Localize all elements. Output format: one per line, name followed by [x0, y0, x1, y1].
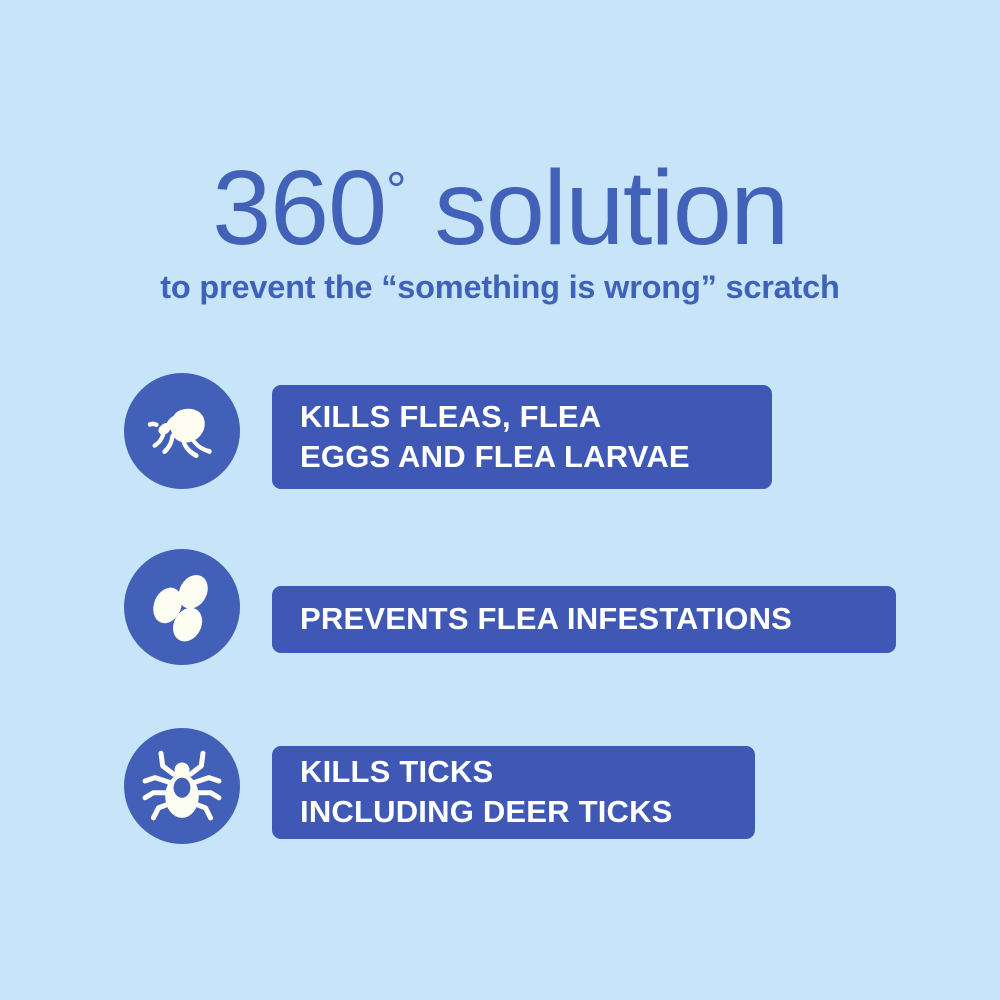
flea-eggs-icon [124, 549, 240, 665]
banner-line: INCLUDING DEER TICKS [300, 792, 755, 832]
banner-line: KILLS TICKS [300, 752, 755, 792]
banner-line: EGGS AND FLEA LARVAE [300, 437, 772, 477]
feature-banner: KILLS FLEAS, FLEA EGGS AND FLEA LARVAE [272, 385, 772, 489]
feature-row: PREVENTS FLEA INFESTATIONS [124, 549, 896, 665]
feature-banner: KILLS TICKS INCLUDING DEER TICKS [272, 746, 755, 839]
banner-line: KILLS FLEAS, FLEA [300, 397, 772, 437]
tick-icon [124, 728, 240, 844]
flea-icon [124, 373, 240, 489]
feature-banner: PREVENTS FLEA INFESTATIONS [272, 586, 896, 653]
feature-row: KILLS FLEAS, FLEA EGGS AND FLEA LARVAE [124, 373, 772, 489]
promo-panel: 360° solution to prevent the “something … [0, 0, 1000, 1000]
feature-row: KILLS TICKS INCLUDING DEER TICKS [124, 728, 755, 844]
feature-list: KILLS FLEAS, FLEA EGGS AND FLEA LARVAE P… [0, 0, 1000, 1000]
banner-line: PREVENTS FLEA INFESTATIONS [300, 599, 896, 639]
